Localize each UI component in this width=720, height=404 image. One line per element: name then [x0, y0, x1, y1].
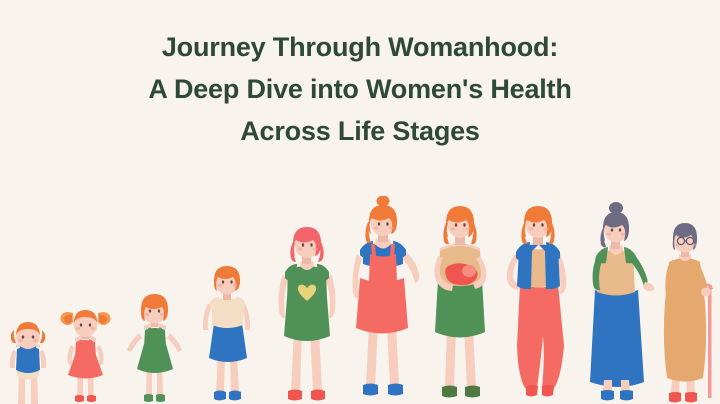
title-line-1: Journey Through Womanhood:: [0, 26, 720, 68]
figure-mother-with-baby: [420, 196, 500, 404]
poster-canvas: Journey Through Womanhood: A Deep Dive i…: [0, 0, 720, 404]
woman-coral-pinafore-illustration: [342, 196, 424, 404]
figure-toddler: [2, 316, 54, 404]
title-line-3: Across Life Stages: [0, 110, 720, 152]
child-green-dress-illustration: [120, 284, 188, 404]
figure-elderly-woman-cane: [652, 216, 720, 404]
figure-woman-blue-cardigan: [498, 196, 578, 404]
toddler-illustration: [2, 316, 54, 404]
elderly-woman-cane-illustration: [652, 216, 720, 404]
title-line-2: A Deep Dive into Women's Health: [0, 68, 720, 110]
poster-title: Journey Through Womanhood: A Deep Dive i…: [0, 26, 720, 152]
figure-child-green-dress: [120, 284, 188, 404]
woman-blue-cardigan-illustration: [498, 196, 578, 404]
figure-mature-woman-blue-skirt: [576, 202, 656, 404]
teen-blue-skirt-illustration: [190, 259, 264, 404]
mature-woman-blue-skirt-illustration: [576, 202, 656, 404]
young-girl-illustration: [54, 300, 116, 404]
young-woman-heart-dress-illustration: [268, 218, 346, 404]
figure-young-woman-heart-dress: [268, 218, 346, 404]
figure-young-girl: [54, 300, 116, 404]
figure-teen-blue-skirt: [190, 259, 264, 404]
mother-with-baby-illustration: [420, 196, 500, 404]
figure-woman-coral-pinafore: [342, 196, 424, 404]
